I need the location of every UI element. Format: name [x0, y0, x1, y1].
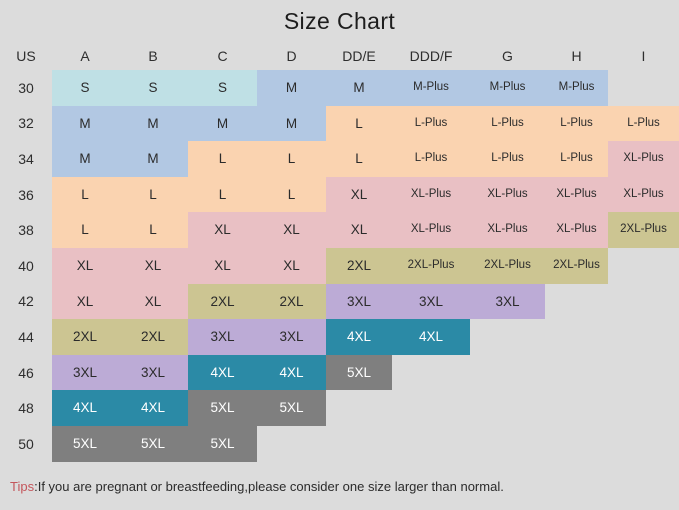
column-header-i: I [608, 41, 679, 70]
size-cell [545, 284, 608, 320]
size-cell [326, 390, 392, 426]
size-cell: XL [52, 248, 118, 284]
size-cell [608, 284, 679, 320]
column-header-d: D [257, 41, 326, 70]
size-cell: 2XL [257, 284, 326, 320]
row-label-us-44: 44 [0, 319, 52, 355]
column-header-a: A [52, 41, 118, 70]
size-cell: L-Plus [545, 106, 608, 142]
size-cell: M [257, 106, 326, 142]
size-cell: M [188, 106, 257, 142]
row-label-us-48: 48 [0, 390, 52, 426]
size-cell: L [52, 177, 118, 213]
size-cell: XL-Plus [470, 177, 545, 213]
column-header-h: H [545, 41, 608, 70]
size-cell [392, 390, 470, 426]
size-cell: L [118, 212, 188, 248]
size-cell: XL [326, 212, 392, 248]
size-cell: M [52, 141, 118, 177]
size-cell: XL-Plus [392, 212, 470, 248]
size-cell: 5XL [188, 390, 257, 426]
size-cell [545, 390, 608, 426]
size-cell: XL [326, 177, 392, 213]
row-label-us-46: 46 [0, 355, 52, 391]
size-cell: 5XL [118, 426, 188, 462]
size-cell: L [118, 177, 188, 213]
size-cell: L [257, 177, 326, 213]
size-cell [608, 70, 679, 106]
row-label-us-42: 42 [0, 284, 52, 320]
size-cell: 2XL [52, 319, 118, 355]
row-label-us-50: 50 [0, 426, 52, 462]
size-cell [392, 355, 470, 391]
size-cell: 2XL-Plus [608, 212, 679, 248]
size-cell [470, 355, 545, 391]
size-cell [470, 390, 545, 426]
size-cell: XL-Plus [545, 212, 608, 248]
size-cell: S [188, 70, 257, 106]
column-header-g: G [470, 41, 545, 70]
size-cell: M [118, 141, 188, 177]
size-cell: 3XL [52, 355, 118, 391]
size-cell: XL-Plus [608, 141, 679, 177]
tips-text: If you are pregnant or breastfeeding,ple… [38, 479, 504, 494]
size-cell: 3XL [392, 284, 470, 320]
size-cell: 2XL [326, 248, 392, 284]
size-cell [470, 426, 545, 462]
size-cell: XL-Plus [608, 177, 679, 213]
tips-note: Tips:If you are pregnant or breastfeedin… [10, 479, 504, 494]
row-label-us-34: 34 [0, 141, 52, 177]
column-header-ddd-f: DDD/F [392, 41, 470, 70]
size-cell: L [188, 141, 257, 177]
size-cell: 3XL [470, 284, 545, 320]
size-cell [608, 390, 679, 426]
size-cell: L-Plus [608, 106, 679, 142]
row-label-us-36: 36 [0, 177, 52, 213]
size-cell: 4XL [118, 390, 188, 426]
size-cell: XL-Plus [392, 177, 470, 213]
size-cell: 2XL-Plus [392, 248, 470, 284]
size-cell: 5XL [257, 390, 326, 426]
page-title: Size Chart [0, 8, 679, 35]
row-label-us-32: 32 [0, 106, 52, 142]
size-cell [608, 248, 679, 284]
size-cell: L-Plus [470, 106, 545, 142]
size-cell: M-Plus [392, 70, 470, 106]
size-cell: M [326, 70, 392, 106]
column-header-dd-e: DD/E [326, 41, 392, 70]
size-cell: S [52, 70, 118, 106]
size-cell: 3XL [188, 319, 257, 355]
size-cell: 2XL [118, 319, 188, 355]
size-cell [257, 426, 326, 462]
size-cell: M-Plus [470, 70, 545, 106]
tips-label: Tips [10, 479, 34, 494]
size-cell: 3XL [326, 284, 392, 320]
column-header-b: B [118, 41, 188, 70]
size-cell: XL-Plus [545, 177, 608, 213]
size-cell: L-Plus [392, 106, 470, 142]
size-cell: 3XL [118, 355, 188, 391]
size-cell: 4XL [326, 319, 392, 355]
size-cell: M [118, 106, 188, 142]
size-cell: 4XL [392, 319, 470, 355]
size-cell: XL [52, 284, 118, 320]
column-header-c: C [188, 41, 257, 70]
size-cell: L [52, 212, 118, 248]
size-cell [470, 319, 545, 355]
size-cell [545, 319, 608, 355]
size-cell: XL [188, 212, 257, 248]
size-cell: 4XL [52, 390, 118, 426]
size-cell: 5XL [52, 426, 118, 462]
size-cell: 2XL-Plus [545, 248, 608, 284]
size-cell: 4XL [188, 355, 257, 391]
size-cell: S [118, 70, 188, 106]
row-label-us-38: 38 [0, 212, 52, 248]
size-cell: L [257, 141, 326, 177]
size-cell: XL [118, 248, 188, 284]
size-cell: 3XL [257, 319, 326, 355]
size-cell: 2XL [188, 284, 257, 320]
size-cell: L-Plus [470, 141, 545, 177]
column-header-us: US [0, 41, 52, 70]
size-cell: XL [257, 212, 326, 248]
size-cell [545, 426, 608, 462]
size-cell: 5XL [326, 355, 392, 391]
size-cell: L-Plus [392, 141, 470, 177]
size-cell [545, 355, 608, 391]
size-cell: XL-Plus [470, 212, 545, 248]
size-cell: M-Plus [545, 70, 608, 106]
size-cell: L-Plus [545, 141, 608, 177]
size-cell [392, 426, 470, 462]
size-chart-grid: USABCDDD/EDDD/FGHI30SSSMMM-PlusM-PlusM-P… [0, 41, 679, 471]
size-cell: XL [118, 284, 188, 320]
size-cell: 5XL [188, 426, 257, 462]
size-cell: M [257, 70, 326, 106]
size-cell: M [52, 106, 118, 142]
size-cell: L [326, 141, 392, 177]
size-cell [326, 426, 392, 462]
size-cell: L [326, 106, 392, 142]
size-cell: 4XL [257, 355, 326, 391]
row-label-us-30: 30 [0, 70, 52, 106]
size-cell [608, 426, 679, 462]
size-cell [608, 355, 679, 391]
size-cell [608, 319, 679, 355]
row-label-us-40: 40 [0, 248, 52, 284]
size-cell: 2XL-Plus [470, 248, 545, 284]
size-cell: L [188, 177, 257, 213]
size-cell: XL [257, 248, 326, 284]
size-cell: XL [188, 248, 257, 284]
